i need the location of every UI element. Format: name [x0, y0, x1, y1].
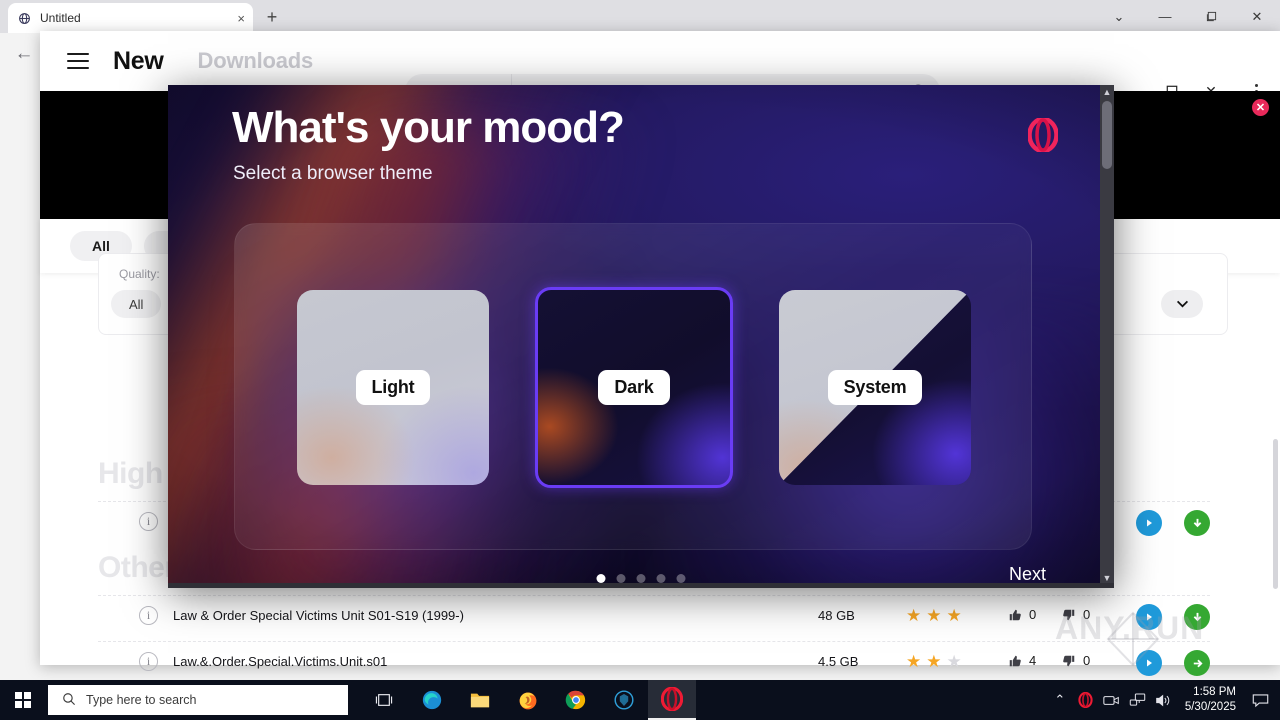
file-explorer-icon[interactable]: [456, 680, 504, 720]
banner-close-icon[interactable]: ✕: [1252, 99, 1269, 116]
theme-label-dark: Dark: [598, 370, 669, 405]
nav-downloads[interactable]: Downloads: [198, 48, 314, 74]
theme-label-light: Light: [356, 370, 431, 405]
clock-time: 1:58 PM: [1193, 685, 1236, 700]
clock[interactable]: 1:58 PM 5/30/2025: [1177, 680, 1246, 720]
brave-icon[interactable]: [600, 680, 648, 720]
download-circle-icon[interactable]: [1184, 650, 1210, 676]
outer-tab[interactable]: Untitled ×: [8, 3, 253, 33]
system-tray: ⌃: [1047, 680, 1280, 720]
info-icon[interactable]: i: [139, 512, 158, 531]
pagination-dot[interactable]: [677, 574, 686, 583]
play-circle-icon[interactable]: [1136, 510, 1162, 536]
result-likes: 0: [1008, 607, 1036, 622]
quality-filter-label: Quality:: [119, 267, 160, 281]
result-title[interactable]: Law & Order Special Victims Unit S01-S19…: [173, 608, 464, 623]
clock-date: 5/30/2025: [1185, 700, 1236, 715]
chevron-up-icon[interactable]: ⌃: [1047, 680, 1073, 720]
edge-icon[interactable]: [408, 680, 456, 720]
modal-scrollbar[interactable]: ▲ ▼: [1100, 85, 1114, 585]
windows-logo-icon[interactable]: [0, 680, 46, 720]
pagination-dots: [597, 574, 686, 583]
volume-icon[interactable]: [1151, 680, 1177, 720]
taskbar-search-placeholder: Type here to search: [86, 693, 196, 707]
download-circle-icon[interactable]: [1184, 604, 1210, 630]
close-icon[interactable]: ×: [237, 12, 245, 25]
opera-icon[interactable]: [648, 680, 696, 720]
section-header-other: Other: [98, 551, 176, 585]
outer-minimize-button[interactable]: —: [1142, 0, 1188, 33]
result-rating: ★★★: [906, 652, 962, 672]
outer-tab-strip: Untitled × + ⌄ — ✕: [0, 0, 1280, 33]
taskbar-search-box[interactable]: Type here to search: [48, 685, 348, 715]
network-icon[interactable]: [1125, 680, 1151, 720]
play-circle-icon[interactable]: [1136, 650, 1162, 676]
quality-filter-value[interactable]: All: [111, 290, 161, 318]
page-scrollbar[interactable]: [1271, 219, 1278, 429]
play-circle-icon[interactable]: [1136, 604, 1162, 630]
camera-icon[interactable]: [1099, 680, 1125, 720]
download-circle-icon[interactable]: [1184, 510, 1210, 536]
result-likes: 4: [1008, 653, 1036, 668]
outer-tab-title: Untitled: [40, 11, 229, 25]
task-view-icon[interactable]: [360, 680, 408, 720]
modal-title: What's your mood?: [232, 103, 624, 153]
table-row[interactable]: i Law & Order Special Victims Unit S01-S…: [40, 595, 1280, 641]
scrollbar-thumb[interactable]: [1102, 101, 1112, 169]
modal-bottom-edge: [168, 583, 1114, 588]
theme-card-dark[interactable]: Dark: [535, 287, 733, 488]
globe-icon: [16, 10, 32, 26]
result-dislikes: 0: [1062, 607, 1090, 622]
new-tab-button[interactable]: +: [260, 6, 284, 30]
result-rating: ★★★: [906, 606, 962, 626]
result-size: 4.5 GB: [818, 654, 858, 669]
screen: Untitled × + ⌄ — ✕ ← New Downloads Torre…: [0, 0, 1280, 720]
theme-label-system: System: [828, 370, 923, 405]
pagination-dot[interactable]: [617, 574, 626, 583]
chevron-down-icon[interactable]: [1161, 290, 1203, 318]
outer-close-button[interactable]: ✕: [1234, 0, 1280, 33]
theme-selection-modal: What's your mood? Select a browser theme…: [168, 85, 1114, 585]
chevron-down-icon[interactable]: ⌄: [1096, 0, 1142, 33]
result-title[interactable]: Law.&.Order.Special.Victims.Unit.s01: [173, 654, 387, 669]
opera-logo-icon: [1028, 118, 1058, 152]
pagination-dot[interactable]: [637, 574, 646, 583]
dislikes-count: 0: [1083, 653, 1090, 668]
modal-subtitle: Select a browser theme: [233, 163, 433, 185]
result-dislikes: 0: [1062, 653, 1090, 668]
theme-card-light[interactable]: Light: [297, 290, 489, 485]
likes-count: 0: [1029, 607, 1036, 622]
scroll-up-icon[interactable]: ▲: [1100, 85, 1114, 99]
taskbar: Type here to search: [0, 680, 1280, 720]
theme-card-system[interactable]: System: [779, 290, 971, 485]
firefox-icon[interactable]: [504, 680, 552, 720]
theme-options-panel: Light Dark System: [234, 223, 1032, 550]
pagination-dot[interactable]: [597, 574, 606, 583]
info-icon[interactable]: i: [139, 606, 158, 625]
info-icon[interactable]: i: [139, 652, 158, 671]
brand-label: New: [113, 47, 164, 76]
outer-maximize-button[interactable]: [1188, 0, 1234, 33]
result-size: 48 GB: [818, 608, 855, 623]
dislikes-count: 0: [1083, 607, 1090, 622]
pagination-dot[interactable]: [657, 574, 666, 583]
back-button[interactable]: ←: [10, 40, 38, 68]
scrollbar-thumb[interactable]: [1273, 439, 1278, 589]
search-icon: [62, 692, 76, 709]
notifications-icon[interactable]: [1246, 680, 1274, 720]
next-button[interactable]: Next: [1009, 564, 1046, 585]
hamburger-icon[interactable]: [67, 53, 89, 69]
likes-count: 4: [1029, 653, 1036, 668]
section-header-high: High: [98, 457, 163, 491]
opera-tray-icon[interactable]: [1073, 680, 1099, 720]
chrome-icon[interactable]: [552, 680, 600, 720]
